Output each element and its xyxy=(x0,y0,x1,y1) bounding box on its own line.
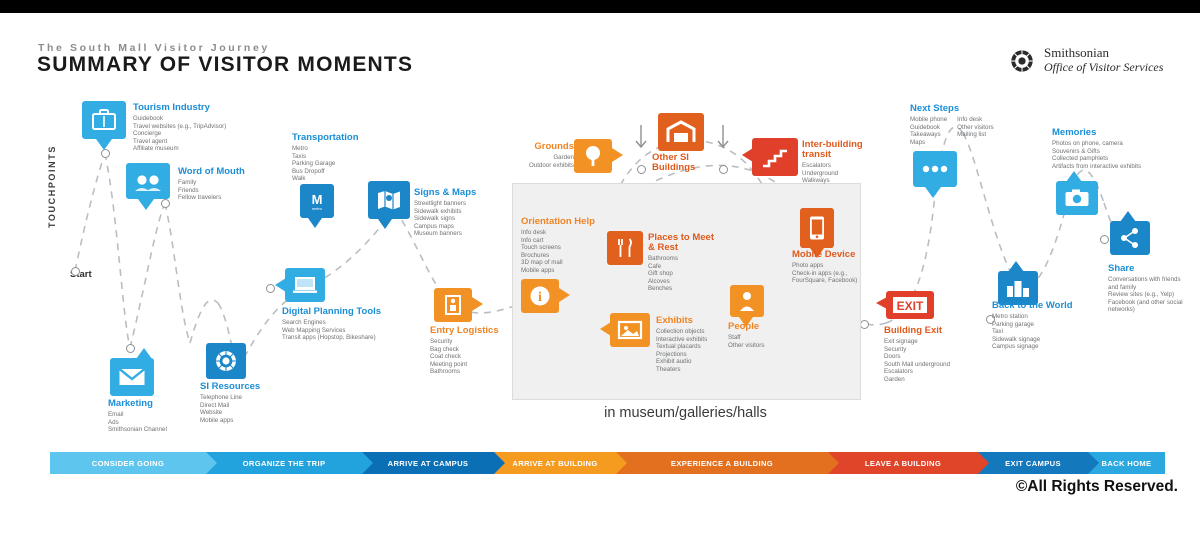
moment-title: Exhibits xyxy=(656,315,728,326)
journey-map-page: The South Mall Visitor Journey SUMMARY O… xyxy=(0,0,1200,553)
moment-title: Back to the World xyxy=(992,300,1092,311)
path-node xyxy=(1100,235,1109,244)
fork-knife-icon xyxy=(614,237,636,259)
diagram-canvas: The South Mall Visitor Journey SUMMARY O… xyxy=(0,13,1200,483)
moment-signs-and-maps: Signs & Maps Streetlight banners Sidewal… xyxy=(414,187,524,238)
moment-places-to-meet-and-rest: Places to Meet & Rest Bathrooms Cafe Gif… xyxy=(648,233,720,293)
moment-items: Collection objects Interactive exhibits … xyxy=(656,328,728,374)
word-of-mouth-icon-chip[interactable] xyxy=(126,163,170,199)
moment-items: Photo apps Check-in apps (e.g., FourSqua… xyxy=(792,262,876,285)
moment-title: Transportation xyxy=(292,132,402,143)
map-pin-icon xyxy=(376,189,402,211)
transportation-icon-chip[interactable]: M metro xyxy=(300,184,334,218)
laptop-icon xyxy=(292,275,318,295)
camera-icon xyxy=(1064,188,1090,208)
moment-title: Signs & Maps xyxy=(414,187,524,198)
moment-items: Security Bag check Coat check Meeting po… xyxy=(430,338,540,376)
moment-title: Share xyxy=(1108,263,1184,274)
museum-zone-caption: in museum/galleries/halls xyxy=(512,405,859,421)
mobile-device-icon-chip[interactable] xyxy=(800,208,834,248)
moment-items: Conversations with friends and family Re… xyxy=(1108,276,1184,314)
moment-items: Metro station Parking garage Taxi Sidewa… xyxy=(992,313,1092,351)
moment-title: SI Resources xyxy=(200,381,310,392)
path-node xyxy=(71,267,80,276)
phase-ribbon: CONSIDER GOING ORGANIZE THE TRIP ARRIVE … xyxy=(50,452,1165,474)
person-doorway-icon xyxy=(441,294,465,316)
phase-label: EXIT CAMPUS xyxy=(1005,459,1061,468)
moment-exhibits: Exhibits Collection objects Interactive … xyxy=(656,315,728,374)
signs-and-maps-icon-chip[interactable] xyxy=(368,181,410,219)
places-to-meet-and-rest-icon-chip[interactable] xyxy=(607,231,643,265)
phase-label: LEAVE A BUILDING xyxy=(865,459,941,468)
moment-title: People xyxy=(728,321,800,332)
phase-experience-a-building[interactable]: EXPERIENCE A BUILDING xyxy=(616,452,828,474)
copyright-text: ©All Rights Reserved. xyxy=(1016,478,1178,496)
building-exit-icon-chip[interactable]: EXIT xyxy=(886,291,934,319)
ellipsis-icon xyxy=(920,164,950,174)
moment-title: Mobile Device xyxy=(792,249,876,260)
moment-items: Photos on phone, camera Souvenirs & Gift… xyxy=(1052,140,1156,170)
moment-memories: Memories Photos on phone, camera Souveni… xyxy=(1052,127,1156,170)
phase-exit-campus[interactable]: EXIT CAMPUS xyxy=(978,452,1088,474)
moment-items: Mobile phone Guidebook Takeaways Maps xyxy=(910,116,947,146)
svg-text:EXIT: EXIT xyxy=(897,299,924,313)
moment-items: Metro Taxis Parking Garage Bus Dropoff W… xyxy=(292,145,402,183)
phase-label: ARRIVE AT CAMPUS xyxy=(388,459,469,468)
exit-sign-icon: EXIT xyxy=(892,296,928,314)
moment-word-of-mouth: Word of Mouth Family Friends Fellow trav… xyxy=(178,166,288,202)
next-steps-icon-chip[interactable] xyxy=(913,151,957,187)
svg-text:i: i xyxy=(538,290,542,305)
moment-title: Word of Mouth xyxy=(178,166,288,177)
person-icon xyxy=(737,290,757,312)
moment-items: Staff Other visitors xyxy=(728,334,800,349)
moment-title: Entry Logistics xyxy=(430,325,540,336)
path-node xyxy=(101,149,110,158)
path-node xyxy=(637,165,646,174)
moment-transportation: Transportation Metro Taxis Parking Garag… xyxy=(292,132,402,183)
path-node xyxy=(126,344,135,353)
people-icon-chip[interactable] xyxy=(730,285,764,317)
moment-items: Escalators Underground Walkways xyxy=(802,162,876,185)
path-node xyxy=(161,199,170,208)
moment-tourism-industry: Tourism Industry Guidebook Travel websit… xyxy=(133,102,253,153)
moment-items: Guidebook Travel websites (e.g., TripAdv… xyxy=(133,115,253,153)
phase-label: ORGANIZE THE TRIP xyxy=(243,459,326,468)
moment-title: Places to Meet & Rest xyxy=(648,233,720,253)
path-node xyxy=(719,165,728,174)
moment-title: Other SI Buildings xyxy=(652,153,710,173)
path-node xyxy=(860,320,869,329)
entry-logistics-icon-chip[interactable] xyxy=(434,288,472,322)
moment-items: Bathrooms Cafe Gift shop Alcoves Benches xyxy=(648,255,720,293)
sun-burst-icon xyxy=(213,348,239,374)
digital-planning-tools-icon-chip[interactable] xyxy=(285,268,325,302)
phase-back-home[interactable]: BACK HOME xyxy=(1088,452,1165,474)
picture-frame-icon xyxy=(617,320,643,340)
moment-title: Grounds xyxy=(520,141,574,152)
metro-m-icon: M metro xyxy=(305,189,329,213)
moment-title: Building Exit xyxy=(884,325,974,336)
moment-title: Memories xyxy=(1052,127,1156,138)
moment-items-secondary: Info desk Other visitors Mailing list xyxy=(957,116,993,146)
moment-items: Search Engines Web Mapping Services Tran… xyxy=(282,319,392,342)
two-people-icon xyxy=(133,171,163,191)
moment-items: Telephone Line Direct Mail Website Mobil… xyxy=(200,394,310,424)
moment-back-to-the-world: Back to the World Metro station Parking … xyxy=(992,300,1092,351)
tree-icon xyxy=(581,144,605,168)
phase-label: CONSIDER GOING xyxy=(92,459,164,468)
moment-si-resources: SI Resources Telephone Line Direct Mail … xyxy=(200,381,310,424)
moment-items: Family Friends Fellow travelers xyxy=(178,179,288,202)
moment-other-si-buildings: Other SI Buildings xyxy=(652,153,710,175)
memories-icon-chip[interactable] xyxy=(1056,181,1098,215)
moment-title: Digital Planning Tools xyxy=(282,306,392,317)
exhibits-icon-chip[interactable] xyxy=(610,313,650,347)
moment-title: Tourism Industry xyxy=(133,102,253,113)
share-icon-chip[interactable] xyxy=(1110,221,1150,255)
share-nodes-icon xyxy=(1119,227,1141,249)
smartphone-icon xyxy=(808,215,826,241)
moment-items: Exit signage Security Doors South Mall u… xyxy=(884,338,974,384)
marketing-icon-chip[interactable] xyxy=(110,358,154,396)
moment-inter-building-transit: Inter-building transit Escalators Underg… xyxy=(802,140,876,185)
phase-organize-the-trip[interactable]: ORGANIZE THE TRIP xyxy=(206,452,362,474)
moment-title: Orientation Help xyxy=(521,216,625,227)
info-circle-icon: i xyxy=(529,285,551,307)
phase-consider-going[interactable]: CONSIDER GOING xyxy=(50,452,206,474)
moment-share: Share Conversations with friends and fam… xyxy=(1108,263,1184,314)
orientation-help-icon-chip[interactable]: i xyxy=(521,279,559,313)
moment-items: Streetlight banners Sidewalk exhibits Si… xyxy=(414,200,524,238)
moment-title: Inter-building transit xyxy=(802,140,876,160)
moment-title: Next Steps xyxy=(910,103,1040,114)
phase-label: ARRIVE AT BUILDING xyxy=(512,459,597,468)
other-si-buildings-icon-chip[interactable] xyxy=(658,113,704,151)
phase-label: BACK HOME xyxy=(1102,459,1152,468)
moment-building-exit: Building Exit Exit signage Security Door… xyxy=(884,325,974,384)
moment-next-steps: Next Steps Mobile phone Guidebook Takeaw… xyxy=(910,103,1040,146)
moment-entry-logistics: Entry Logistics Security Bag check Coat … xyxy=(430,325,540,376)
phase-arrive-at-campus[interactable]: ARRIVE AT CAMPUS xyxy=(362,452,494,474)
moment-people: People Staff Other visitors xyxy=(728,321,800,349)
envelope-icon xyxy=(118,367,146,387)
svg-text:M: M xyxy=(312,192,323,207)
moment-grounds: Grounds Garden Outdoor exhibits xyxy=(520,141,574,169)
suitcase-icon xyxy=(91,108,117,132)
grounds-icon-chip[interactable] xyxy=(574,139,612,173)
path-node xyxy=(266,284,275,293)
phase-leave-a-building[interactable]: LEAVE A BUILDING xyxy=(828,452,978,474)
city-skyline-icon xyxy=(1005,278,1031,298)
moment-digital-planning-tools: Digital Planning Tools Search Engines We… xyxy=(282,306,392,342)
svg-text:metro: metro xyxy=(312,206,323,211)
building-icon xyxy=(666,120,696,144)
inter-building-transit-icon-chip[interactable] xyxy=(752,138,798,176)
phase-arrive-at-building[interactable]: ARRIVE AT BUILDING xyxy=(494,452,616,474)
si-resources-icon-chip[interactable] xyxy=(206,343,246,379)
tourism-industry-icon-chip[interactable] xyxy=(82,101,126,139)
stairs-icon xyxy=(760,145,790,169)
moment-mobile-device: Mobile Device Photo apps Check-in apps (… xyxy=(792,249,876,285)
phase-label: EXPERIENCE A BUILDING xyxy=(671,459,773,468)
moment-items: Garden Outdoor exhibits xyxy=(520,154,574,169)
